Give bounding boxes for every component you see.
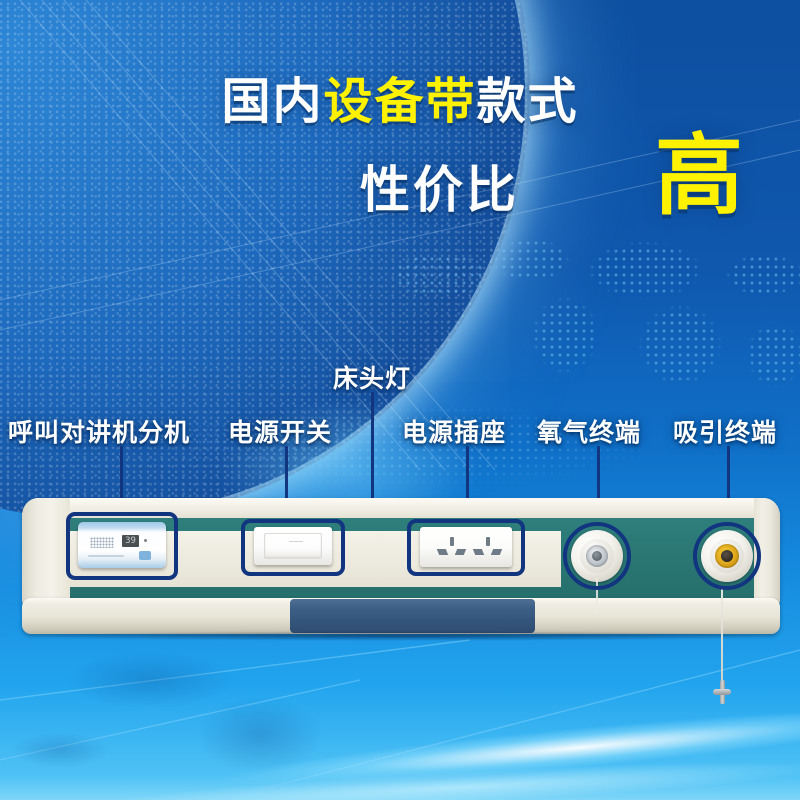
headline-line-1: 国内设备带款式 <box>0 78 800 127</box>
pull-cord-handle[interactable] <box>713 680 731 704</box>
callout-label-power-socket: 电源插座 <box>402 413 506 449</box>
headline-block: 国内设备带款式 性价比 高 <box>0 78 800 232</box>
poster-canvas: 国内设备带款式 性价比 高 呼叫对讲机分机 电源开关 床头灯 电源插座 氧气终端… <box>0 0 800 800</box>
callout-label-oxygen: 氧气终端 <box>537 413 641 449</box>
headline-line-2: 性价比 <box>360 150 519 222</box>
headline-line1-part1: 国内 <box>221 75 323 129</box>
highlight-box-intercom <box>66 512 178 580</box>
headline-line1-part3: 款式 <box>477 75 579 129</box>
callout-label-intercom: 呼叫对讲机分机 <box>8 413 190 449</box>
callout-label-bed-lamp: 床头灯 <box>333 359 411 395</box>
suction-pull-cord[interactable] <box>721 586 723 686</box>
handle-crossbar <box>713 689 731 695</box>
highlight-box-power-socket <box>407 519 525 576</box>
panel-rail-blue-section <box>290 599 535 633</box>
callout-label-suction: 吸引终端 <box>673 413 777 449</box>
callout-label-power-switch: 电源开关 <box>228 413 332 449</box>
headline-emphasis-character: 高 <box>655 132 743 220</box>
headline-line1-part2: 设备带 <box>323 75 476 129</box>
panel-drop-shadow <box>32 631 772 641</box>
highlight-box-power-switch <box>241 519 345 576</box>
panel-left-end-cap <box>22 498 70 606</box>
highlight-circle-suction <box>693 522 761 590</box>
highlight-circle-oxygen <box>563 522 631 590</box>
